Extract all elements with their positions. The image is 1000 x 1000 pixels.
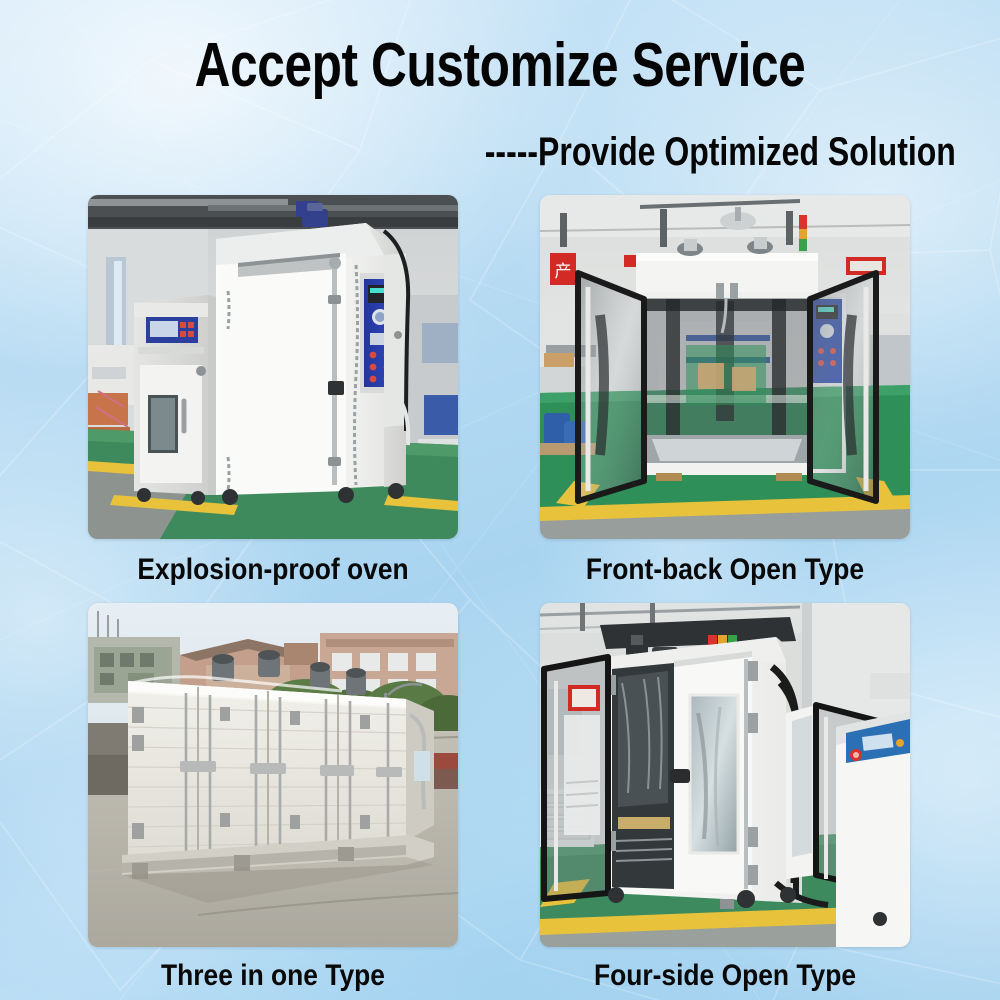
caption-explosion-proof-oven: Explosion-proof oven — [110, 539, 436, 585]
svg-text:产: 产 — [555, 262, 572, 282]
page-subtitle: -----Provide Optimized Solution — [485, 131, 956, 173]
explosion-proof-oven-illustration — [88, 195, 458, 539]
gallery-item-three-in-one-type[interactable]: Three in one Type — [88, 603, 458, 991]
caption-four-side-open-type: Four-side Open Type — [562, 947, 888, 991]
product-photo-explosion-proof-oven[interactable] — [88, 195, 458, 539]
caption-front-back-open-type: Front-back Open Type — [562, 539, 888, 585]
gallery-item-front-back-open-type[interactable]: 产 — [540, 195, 910, 585]
gallery-row-1: Explosion-proof oven — [88, 195, 910, 585]
page-title: Accept Customize Service — [100, 34, 900, 97]
promo-image: Accept Customize Service -----Provide Op… — [0, 0, 1000, 1000]
product-photo-four-side-open-type[interactable] — [540, 603, 910, 947]
four-side-open-type-illustration — [540, 603, 910, 947]
gallery-row-2: Three in one Type — [88, 603, 910, 991]
product-photo-front-back-open-type[interactable]: 产 — [540, 195, 910, 539]
gallery-item-four-side-open-type[interactable]: Four-side Open Type — [540, 603, 910, 991]
front-back-open-type-illustration: 产 — [540, 195, 910, 539]
product-photo-three-in-one-type[interactable] — [88, 603, 458, 947]
three-in-one-type-illustration — [88, 603, 458, 947]
gallery-item-explosion-proof-oven[interactable]: Explosion-proof oven — [88, 195, 458, 585]
caption-three-in-one-type: Three in one Type — [110, 947, 436, 991]
product-gallery: Explosion-proof oven — [88, 195, 910, 991]
